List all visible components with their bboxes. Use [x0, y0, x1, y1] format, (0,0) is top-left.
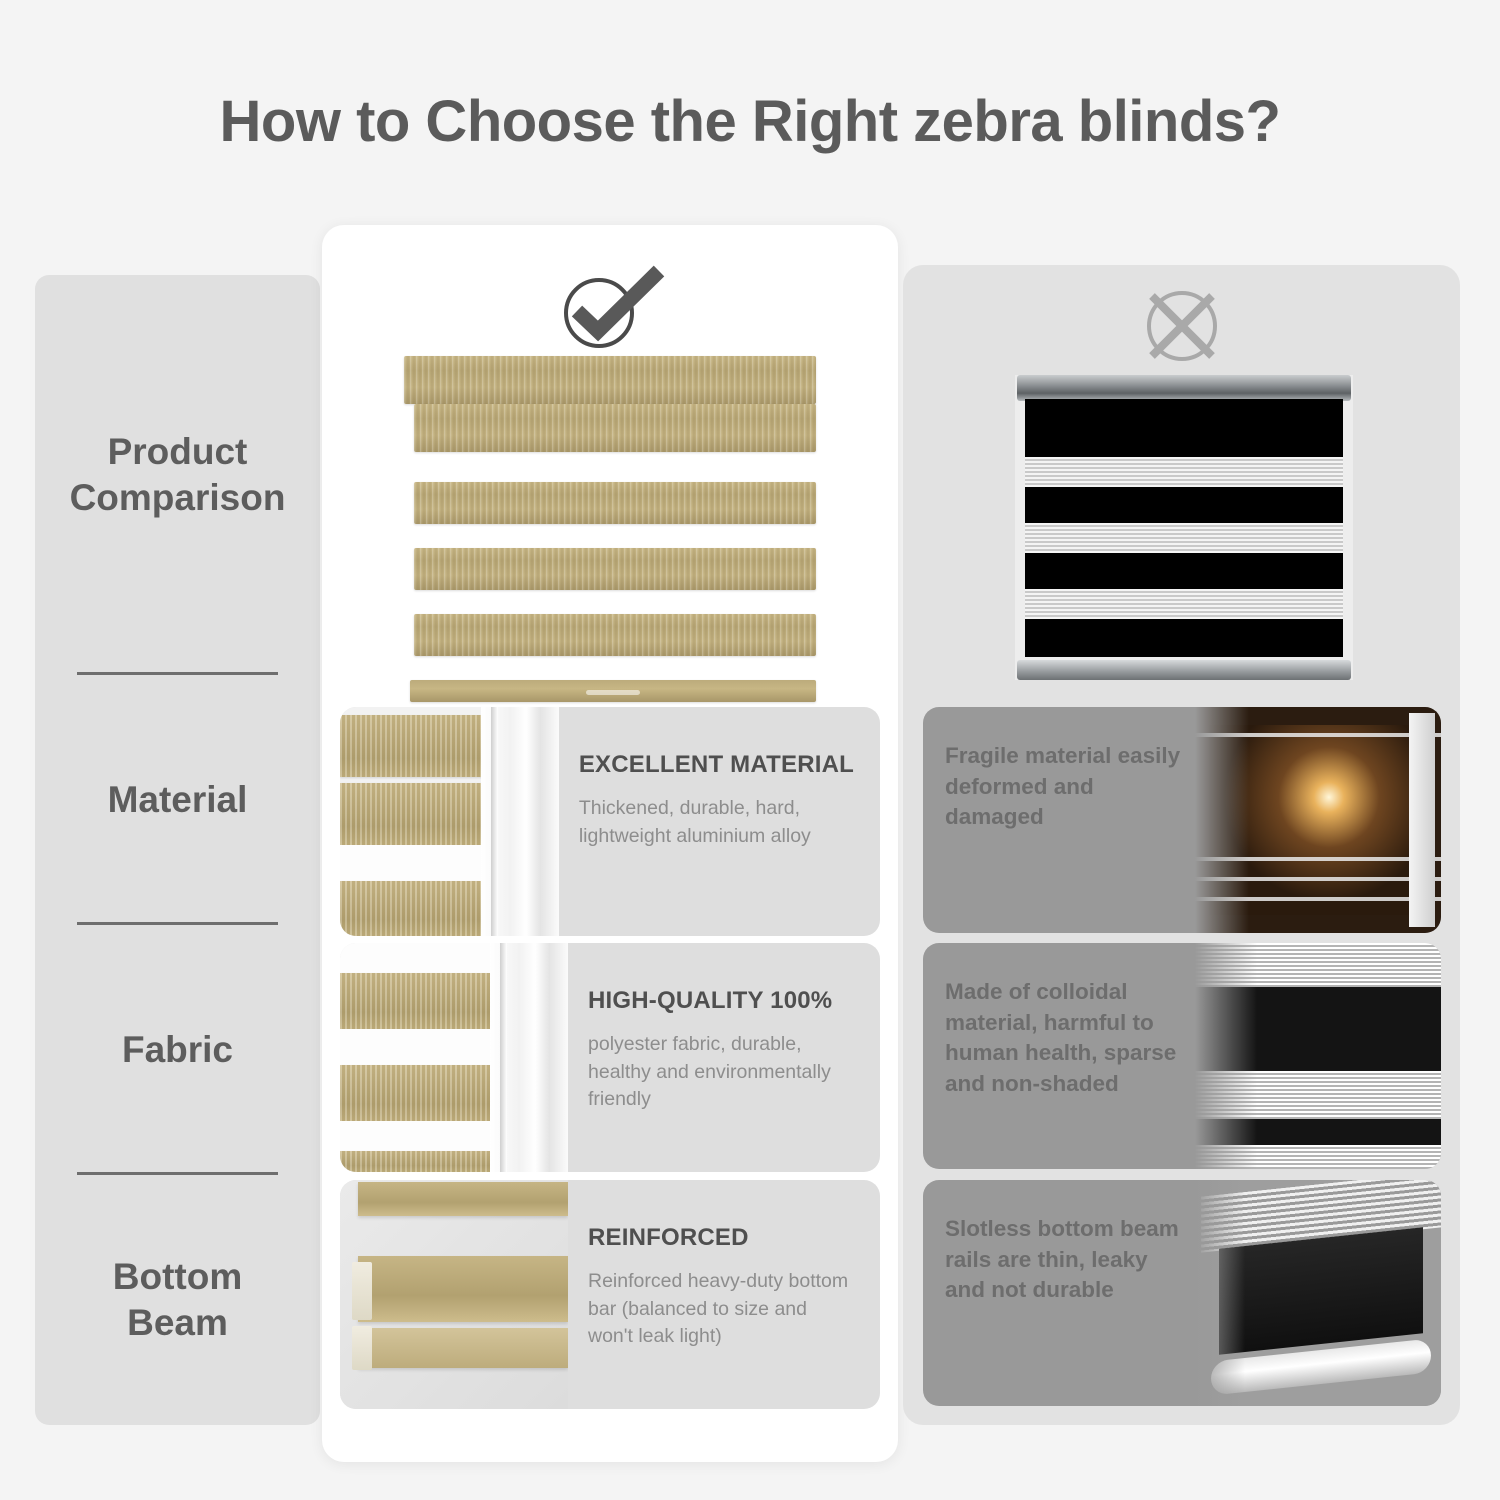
- blind-slat: [340, 1151, 500, 1172]
- headrail: [1017, 375, 1351, 401]
- sidebar-label-material: Material: [90, 777, 266, 823]
- sheer-stripe: [340, 943, 508, 973]
- recommended-product-card: EXCELLENT MATERIAL Thickened, durable, h…: [322, 225, 898, 1462]
- blind-slat: [340, 881, 500, 936]
- blind-slat: [340, 715, 500, 777]
- good-feature-text-material: EXCELLENT MATERIAL Thickened, durable, h…: [559, 707, 880, 936]
- feature-body: Reinforced heavy-duty bottom bar (balanc…: [588, 1268, 854, 1351]
- image-fade: [1195, 707, 1249, 933]
- blind-slat: [358, 1256, 568, 1322]
- not-recommended-product-panel: Fragile material easily deformed and dam…: [903, 265, 1460, 1425]
- good-feature-card-bottom-beam: REINFORCED Reinforced heavy-duty bottom …: [340, 1180, 880, 1409]
- feature-title: REINFORCED: [588, 1224, 854, 1252]
- sidebar-label-bottom-beam: BottomBeam: [95, 1254, 260, 1347]
- good-feature-image-fabric: [340, 943, 568, 1172]
- bad-feature-image-bottom-beam: [1195, 1180, 1441, 1406]
- blind-slat: [340, 973, 500, 1029]
- good-feature-card-material: EXCELLENT MATERIAL Thickened, durable, h…: [340, 707, 880, 936]
- blind-slat: [414, 548, 816, 590]
- bad-hero-image: [1015, 375, 1353, 680]
- good-feature-card-fabric: HIGH-QUALITY 100% polyester fabric, dura…: [340, 943, 880, 1172]
- blind-slat: [358, 1182, 568, 1216]
- beam-end-cap: [352, 1326, 372, 1370]
- bad-feature-image-fabric: [1195, 943, 1441, 1169]
- blind-slat: [414, 614, 816, 656]
- bad-feature-text-bottom-beam: Slotless bottom beam rails are thin, lea…: [923, 1180, 1195, 1406]
- check-circle-icon: [551, 261, 669, 353]
- blind-slat: [340, 1065, 500, 1121]
- sidebar-row-product-comparison: ProductComparison: [35, 275, 320, 675]
- bad-feature-image-material: [1195, 707, 1441, 933]
- image-fade: [1195, 943, 1257, 1169]
- bad-feature-card-material: Fragile material easily deformed and dam…: [923, 707, 1441, 933]
- criteria-sidebar: ProductComparison Material Fabric Bottom…: [35, 275, 320, 1425]
- good-feature-image-bottom-beam: [340, 1180, 568, 1409]
- bottom-beam: [1017, 660, 1351, 680]
- good-feature-image-material: [340, 707, 559, 936]
- sheer-stripe: [1025, 523, 1343, 553]
- bad-feature-text-fabric: Made of colloidal material, harmful to h…: [923, 943, 1195, 1169]
- blind-body: [1219, 1227, 1423, 1354]
- image-fade: [1195, 1180, 1245, 1406]
- blind-slat: [414, 482, 816, 524]
- sidebar-label-product-comparison: ProductComparison: [52, 429, 304, 522]
- bottom-beam: [410, 680, 816, 702]
- bad-feature-card-bottom-beam: Slotless bottom beam rails are thin, lea…: [923, 1180, 1441, 1406]
- window-frame: [481, 707, 559, 936]
- x-circle-icon: [1139, 283, 1225, 369]
- bad-feature-text-material: Fragile material easily deformed and dam…: [923, 707, 1195, 933]
- good-hero-image: [322, 350, 898, 706]
- sheer-stripe: [1025, 457, 1343, 487]
- bottom-beam: [358, 1328, 568, 1368]
- sidebar-row-material: Material: [35, 675, 320, 925]
- sheer-stripe: [340, 1029, 508, 1065]
- good-feature-text-fabric: HIGH-QUALITY 100% polyester fabric, dura…: [568, 943, 880, 1172]
- feature-body: Thickened, durable, hard, lightweight al…: [579, 795, 854, 850]
- headrail: [404, 356, 816, 404]
- window-frame: [490, 943, 568, 1172]
- window-frame: [1409, 713, 1435, 927]
- beam-end-cap: [352, 1262, 372, 1320]
- page-title: How to Choose the Right zebra blinds?: [0, 88, 1500, 155]
- sidebar-row-bottom-beam: BottomBeam: [35, 1175, 320, 1425]
- feature-title: HIGH-QUALITY 100%: [588, 987, 854, 1015]
- sidebar-label-fabric: Fabric: [104, 1027, 251, 1073]
- bad-feature-card-fabric: Made of colloidal material, harmful to h…: [923, 943, 1441, 1169]
- sheer-stripe: [340, 1121, 508, 1151]
- sheer-stripe: [1025, 589, 1343, 619]
- good-feature-text-bottom-beam: REINFORCED Reinforced heavy-duty bottom …: [568, 1180, 880, 1409]
- blind-slat: [340, 783, 500, 845]
- feature-body: polyester fabric, durable, healthy and e…: [588, 1031, 854, 1114]
- sidebar-row-fabric: Fabric: [35, 925, 320, 1175]
- headrail-valance: [414, 404, 816, 452]
- feature-title: EXCELLENT MATERIAL: [579, 751, 854, 779]
